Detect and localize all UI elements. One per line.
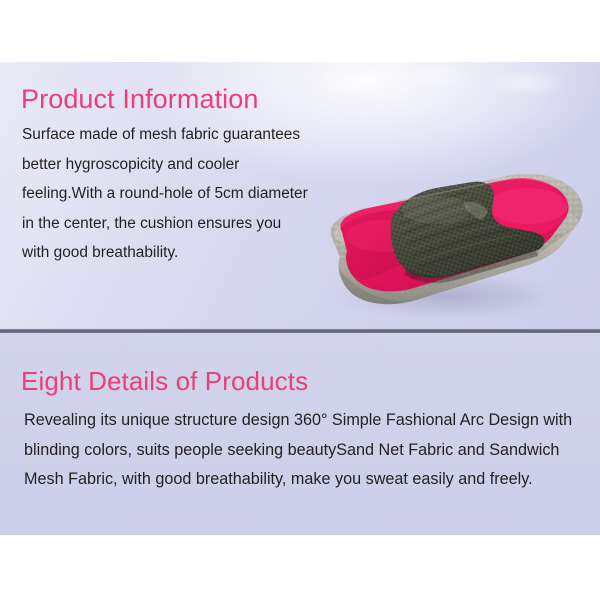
eight-details-panel: Eight Details of Products Revealing its … (0, 333, 600, 535)
background-haze-artifact (292, 62, 592, 100)
product-description-image: Product Information Surface made of mesh… (0, 0, 600, 600)
eight-details-heading: Eight Details of Products (21, 366, 308, 397)
eight-details-body: Revealing its unique structure design 36… (24, 406, 584, 495)
product-information-panel: Product Information Surface made of mesh… (0, 62, 600, 331)
product-information-body: Surface made of mesh fabric guarantees b… (22, 120, 312, 268)
product-information-heading: Product Information (21, 84, 259, 115)
seat-cushion-photo (296, 114, 592, 328)
